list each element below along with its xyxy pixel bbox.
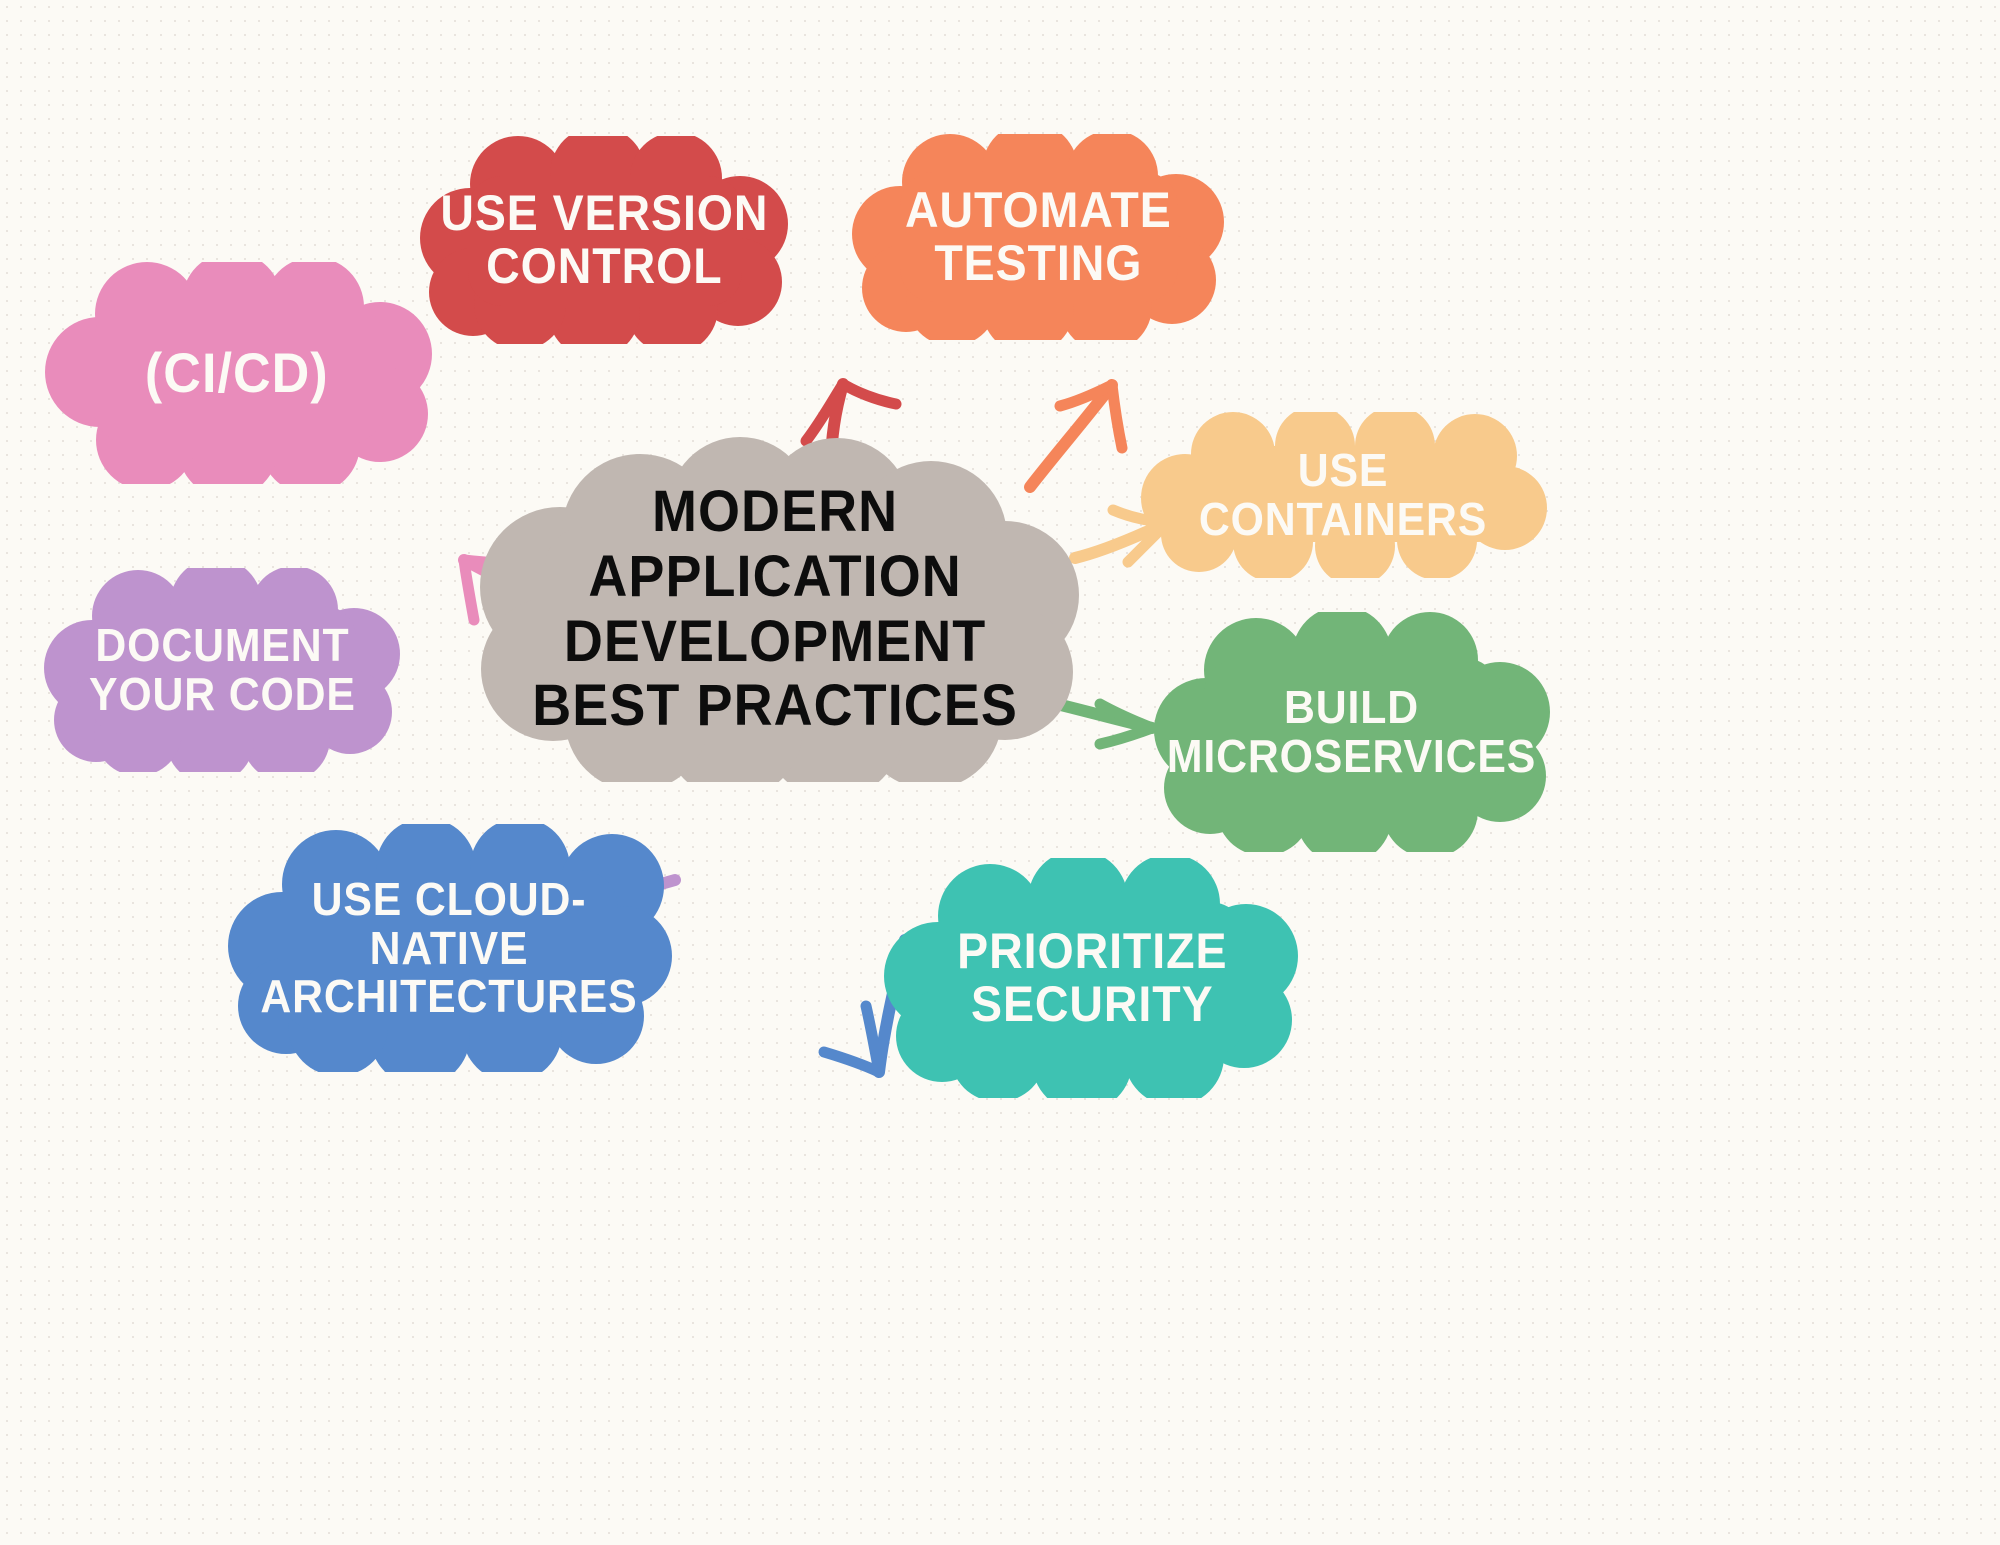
prioritize-security-label: PRIORITIZE SECURITY xyxy=(957,925,1227,1031)
center-node-modern-application-development-best-practices[interactable]: MODERN APPLICATION DEVELOPMENT BEST PRAC… xyxy=(465,437,1085,782)
center-node-label: MODERN APPLICATION DEVELOPMENT BEST PRAC… xyxy=(532,480,1018,740)
document-your-code-label: DOCUMENT YOUR CODE xyxy=(89,621,356,719)
branch-node-document-your-code[interactable]: DOCUMENT YOUR CODE xyxy=(42,568,402,772)
automate-testing-label: AUTOMATE TESTING xyxy=(905,184,1172,290)
branch-node-prioritize-security[interactable]: PRIORITIZE SECURITY xyxy=(882,858,1302,1098)
branch-node-use-containers[interactable]: USE CONTAINERS xyxy=(1137,412,1549,578)
use-containers-label: USE CONTAINERS xyxy=(1151,446,1534,544)
ci-cd-label: (CI/CD) xyxy=(145,343,329,402)
branch-node-use-version-control[interactable]: USE VERSION CONTROL xyxy=(418,136,790,344)
branch-node-build-microservices[interactable]: BUILD MICROSERVICES xyxy=(1152,612,1552,852)
mind-map-canvas: MODERN APPLICATION DEVELOPMENT BEST PRAC… xyxy=(0,0,2000,1545)
branch-node-automate-testing[interactable]: AUTOMATE TESTING xyxy=(850,134,1226,340)
use-version-control-label: USE VERSION CONTROL xyxy=(440,187,768,293)
branch-node-ci-cd[interactable]: (CI/CD) xyxy=(42,262,432,484)
branch-node-use-cloud-native-architectures[interactable]: USE CLOUD-NATIVE ARCHITECTURES xyxy=(224,824,674,1072)
use-cloud-native-label: USE CLOUD-NATIVE ARCHITECTURES xyxy=(240,875,659,1021)
build-microservices-label: BUILD MICROSERVICES xyxy=(1167,683,1536,781)
